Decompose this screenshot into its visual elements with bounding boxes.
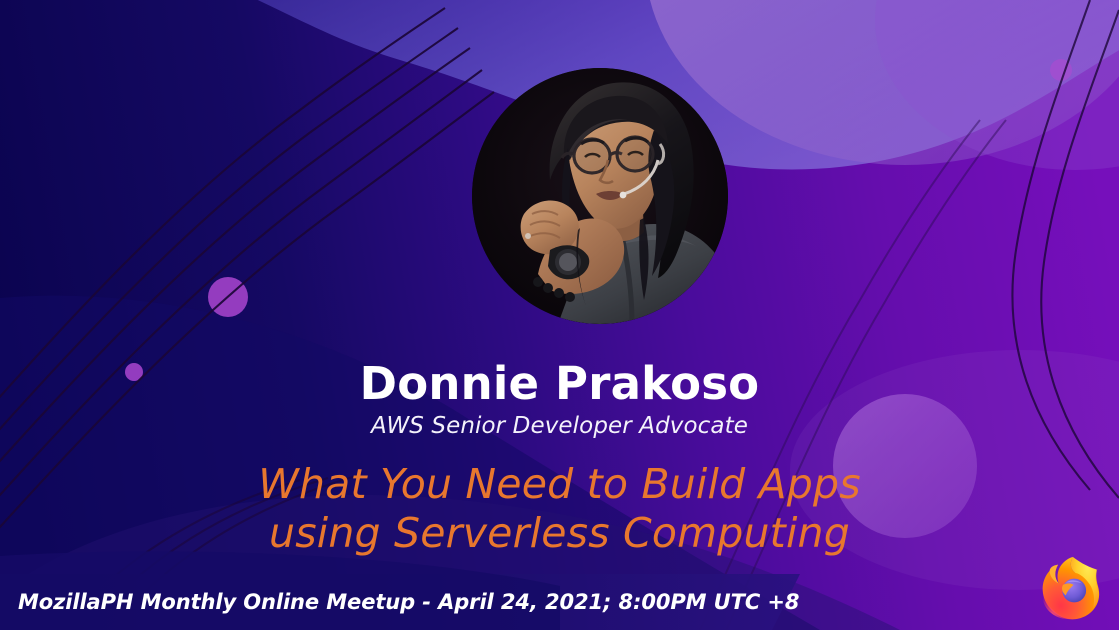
presentation-slide: Donnie Prakoso AWS Senior Developer Advo… [0, 0, 1119, 630]
speaker-role: AWS Senior Developer Advocate [0, 410, 1119, 442]
talk-title: What You Need to Build Apps using Server… [0, 460, 1119, 558]
firefox-logo [1035, 552, 1105, 622]
portrait-mic-capsule [620, 192, 627, 199]
portrait-ring [525, 233, 531, 239]
talk-title-line-2: using Serverless Computing [0, 509, 1119, 558]
talk-title-line-1: What You Need to Build Apps [0, 460, 1119, 509]
firefox-icon [1035, 552, 1105, 622]
speaker-portrait-image [472, 68, 728, 324]
event-details-text: MozillaPH Monthly Online Meetup - April … [18, 589, 799, 615]
footer-bar: MozillaPH Monthly Online Meetup - April … [0, 574, 1119, 630]
speaker-name: Donnie Prakoso [0, 358, 1119, 410]
slide-text-block: Donnie Prakoso AWS Senior Developer Advo… [0, 358, 1119, 558]
speaker-portrait [472, 68, 728, 324]
